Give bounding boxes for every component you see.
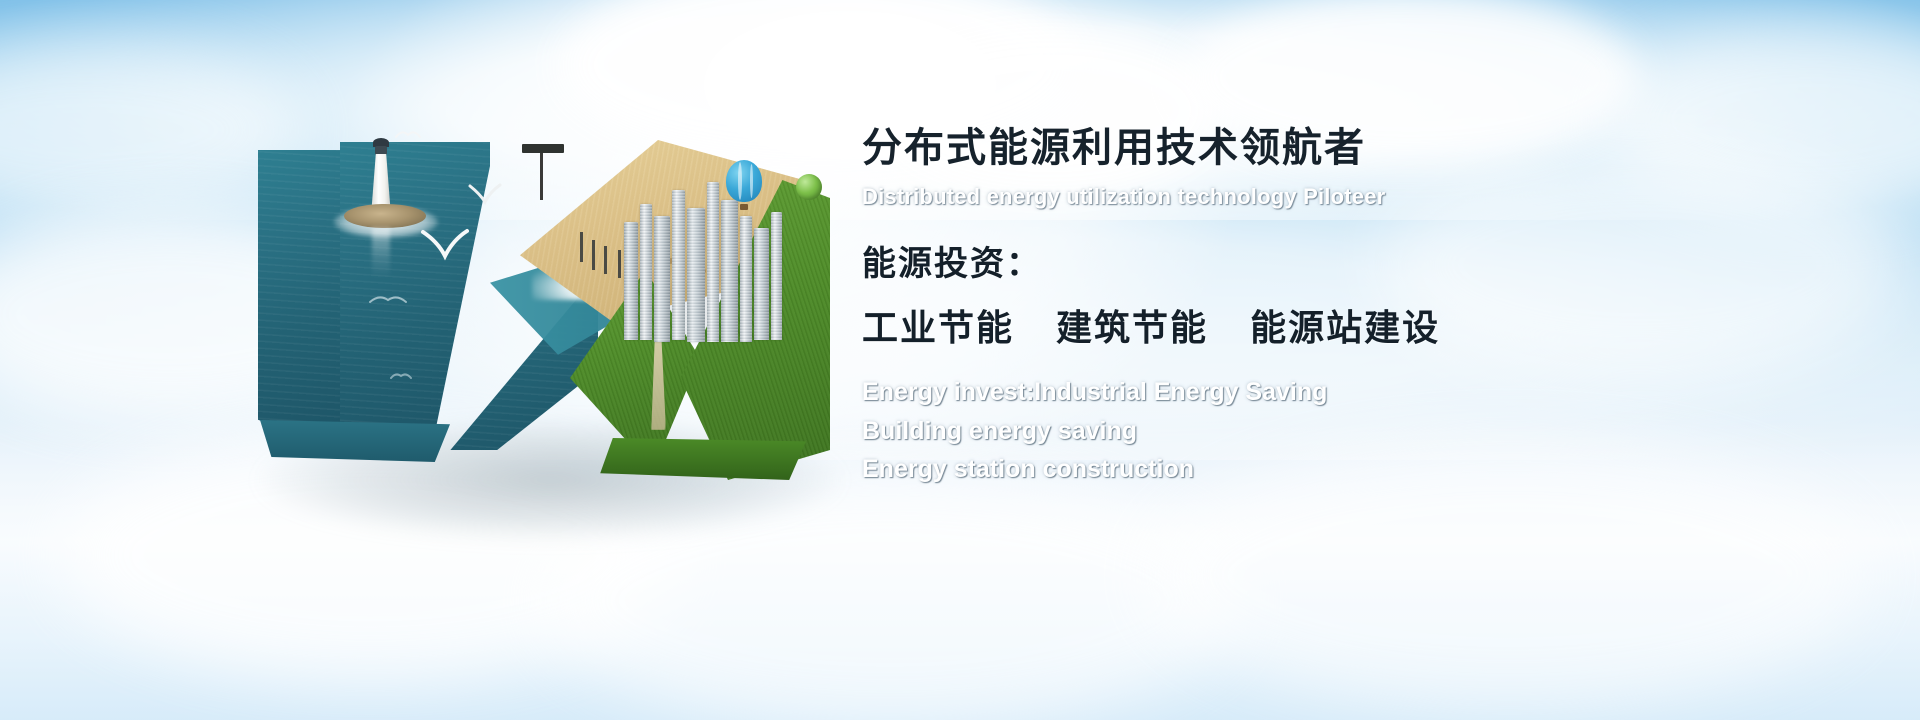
rocky-island — [344, 204, 426, 228]
ocean-left-limb — [258, 150, 346, 440]
stake-2 — [592, 240, 595, 270]
seagull-icon-1 — [395, 128, 421, 140]
stake-4 — [618, 250, 621, 278]
banner-copy: 分布式能源利用技术领航者 Distributed energy utilizat… — [862, 126, 1862, 489]
stake-1 — [580, 232, 583, 262]
city-tower-4 — [672, 190, 685, 340]
water-texture-left — [258, 150, 346, 440]
city-tower-3 — [654, 216, 670, 342]
w-letter-artwork — [240, 120, 860, 510]
balloon-basket — [740, 204, 748, 210]
city-tower-8 — [740, 216, 752, 342]
city-tower-7 — [721, 200, 738, 342]
services-list-chinese: 工业节能 建筑节能 能源站建设 — [862, 299, 1862, 351]
seagull-icon-4 — [368, 292, 408, 306]
balloon-stripe-2 — [750, 164, 753, 198]
grass-bottom-bevel — [596, 438, 806, 480]
seagull-icon-2 — [468, 182, 502, 208]
grass-globe-icon — [796, 174, 822, 200]
headline-chinese: 分布式能源利用技术领航者 — [862, 126, 1862, 171]
city-tower-10 — [771, 212, 782, 340]
city-tower-6 — [707, 182, 719, 342]
seagull-icon-5 — [390, 370, 412, 380]
lighthouse-lamp-icon — [375, 146, 387, 155]
lighthouse-reflection — [372, 228, 390, 278]
english-line-2: Building energy saving — [862, 412, 1862, 451]
city-tower-5 — [687, 208, 705, 342]
seagull-icon-3 — [420, 226, 470, 262]
service-item-industrial: 工业节能 — [862, 307, 1014, 348]
balloon-stripe-1 — [738, 162, 742, 200]
english-line-3: Energy station construction — [862, 450, 1862, 489]
stake-3 — [604, 246, 607, 274]
signpost-board — [522, 144, 564, 153]
subheadline-english: Distributed energy utilization technolog… — [862, 184, 1862, 210]
lead-label-chinese: 能源投资： — [862, 236, 1862, 285]
city-tower-1 — [624, 222, 638, 340]
signpost-icon — [540, 148, 543, 200]
city-tower-2 — [640, 204, 652, 340]
hot-air-balloon-icon — [726, 160, 762, 202]
service-item-building: 建筑节能 — [1056, 307, 1208, 348]
hero-banner: 分布式能源利用技术领航者 Distributed energy utilizat… — [0, 0, 1920, 720]
city-tower-9 — [754, 228, 769, 340]
english-line-1: Energy invest:Industrial Energy Saving — [862, 373, 1862, 412]
ocean-left-bottom-bevel — [260, 420, 450, 462]
english-description-list: Energy invest:Industrial Energy Saving B… — [862, 373, 1862, 489]
service-item-station: 能源站建设 — [1250, 307, 1440, 348]
